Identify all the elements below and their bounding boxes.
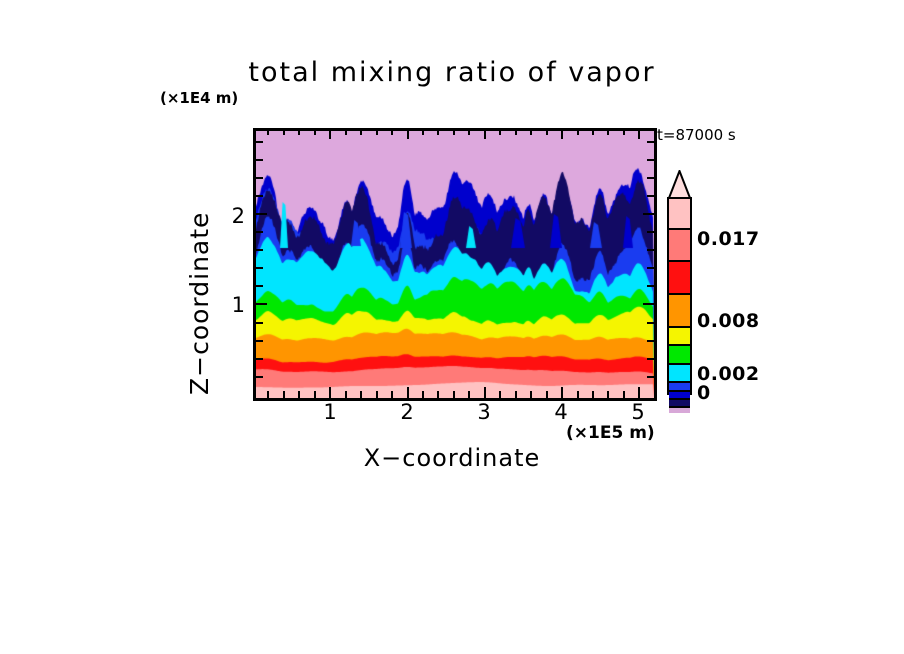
y-axis-title-wrap: Z−coordinate [214, 175, 244, 395]
x-tick-top [407, 128, 409, 139]
x-tick [453, 391, 455, 398]
x-tick-top [345, 128, 347, 135]
x-tick [499, 391, 501, 398]
y-tick [256, 358, 263, 360]
y-tick [256, 285, 263, 287]
y-tick-right [643, 303, 654, 305]
x-axis-title: X−coordinate [253, 444, 651, 472]
x-tick-top [561, 128, 563, 139]
x-tick-top [360, 128, 362, 135]
x-tick [360, 391, 362, 398]
x-tick [422, 391, 424, 398]
colorbar-band [669, 295, 690, 326]
x-tick [638, 387, 640, 398]
x-tick-top [453, 128, 455, 135]
x-tick [515, 391, 517, 398]
x-tick [484, 387, 486, 398]
y-axis-unit-label: (×1E4 m) [160, 89, 238, 107]
y-tick-right [647, 231, 654, 233]
colorbar-tick-label: 0.017 [697, 228, 760, 250]
x-tick-top [437, 128, 439, 135]
colorbar-band [669, 328, 690, 344]
y-tick-right [647, 195, 654, 197]
y-tick-right [647, 159, 654, 161]
x-tick-top [577, 128, 579, 135]
y-tick-right [647, 340, 654, 342]
colorbar-band [669, 365, 690, 381]
x-tick-top [546, 128, 548, 135]
x-tick [607, 391, 609, 398]
y-axis-title: Z−coordinate [185, 212, 214, 395]
x-tick-top [298, 128, 300, 135]
x-tick-top [422, 128, 424, 135]
y-tick [256, 376, 263, 378]
y-tick-right [643, 213, 654, 215]
x-tick-top [592, 128, 594, 135]
x-tick [623, 391, 625, 398]
colorbar-tick-label: 0.008 [697, 310, 760, 332]
x-tick-label: 5 [618, 400, 658, 424]
x-tick-label: 2 [387, 400, 427, 424]
x-tick [314, 391, 316, 398]
y-tick [256, 195, 263, 197]
y-tick [256, 249, 263, 251]
x-tick-label: 4 [541, 400, 581, 424]
x-tick [391, 391, 393, 398]
x-axis-unit-label: (×1E5 m) [566, 423, 655, 443]
x-tick [437, 391, 439, 398]
x-tick [283, 391, 285, 398]
y-tick [256, 267, 263, 269]
x-tick-top [607, 128, 609, 135]
x-tick [592, 391, 594, 398]
contour-plot-area [253, 128, 657, 401]
x-tick-top [283, 128, 285, 135]
timestamp-annotation: t=87000 s [657, 126, 736, 144]
y-tick [256, 141, 263, 143]
y-tick [256, 213, 267, 215]
y-tick-right [647, 177, 654, 179]
y-tick-right [647, 376, 654, 378]
x-tick [298, 391, 300, 398]
colorbar [667, 197, 692, 395]
y-tick [256, 159, 263, 161]
colorbar-band [669, 383, 690, 390]
x-tick-top [468, 128, 470, 135]
x-tick-top [267, 128, 269, 135]
x-tick [407, 387, 409, 398]
y-tick [256, 231, 263, 233]
x-tick-top [638, 128, 640, 139]
y-tick-right [647, 322, 654, 324]
x-tick [329, 387, 331, 398]
x-tick [577, 391, 579, 398]
x-tick-top [623, 128, 625, 135]
x-tick [468, 391, 470, 398]
colorbar-band [669, 262, 690, 293]
x-tick [267, 391, 269, 398]
x-tick [561, 387, 563, 398]
y-tick-right [647, 358, 654, 360]
x-tick-top [530, 128, 532, 135]
y-tick [256, 340, 263, 342]
y-tick-right [647, 141, 654, 143]
y-tick [256, 177, 263, 179]
colorbar-band [669, 346, 690, 363]
figure-canvas: total mixing ratio of vapor (×1E4 m) t=8… [0, 0, 904, 654]
x-tick [345, 391, 347, 398]
y-tick [256, 322, 263, 324]
x-tick [376, 391, 378, 398]
x-tick-top [376, 128, 378, 135]
colorbar-band [669, 408, 690, 413]
x-tick-top [391, 128, 393, 135]
y-tick [256, 303, 267, 305]
page-title: total mixing ratio of vapor [0, 57, 904, 88]
y-tick-right [647, 285, 654, 287]
x-tick [546, 391, 548, 398]
colorbar-tick-label: 0 [697, 382, 711, 404]
y-tick-right [647, 267, 654, 269]
x-tick-top [484, 128, 486, 139]
x-tick-top [314, 128, 316, 135]
colorbar-band [669, 199, 690, 228]
colorbar-max-arrow-icon [667, 170, 692, 199]
colorbar-band [669, 230, 690, 260]
contour-field-canvas [256, 131, 654, 398]
x-tick-label: 3 [464, 400, 504, 424]
x-tick-label: 1 [310, 400, 350, 424]
x-tick-top [499, 128, 501, 135]
x-tick-top [329, 128, 331, 139]
y-tick-right [647, 249, 654, 251]
x-tick-top [515, 128, 517, 135]
x-tick [530, 391, 532, 398]
